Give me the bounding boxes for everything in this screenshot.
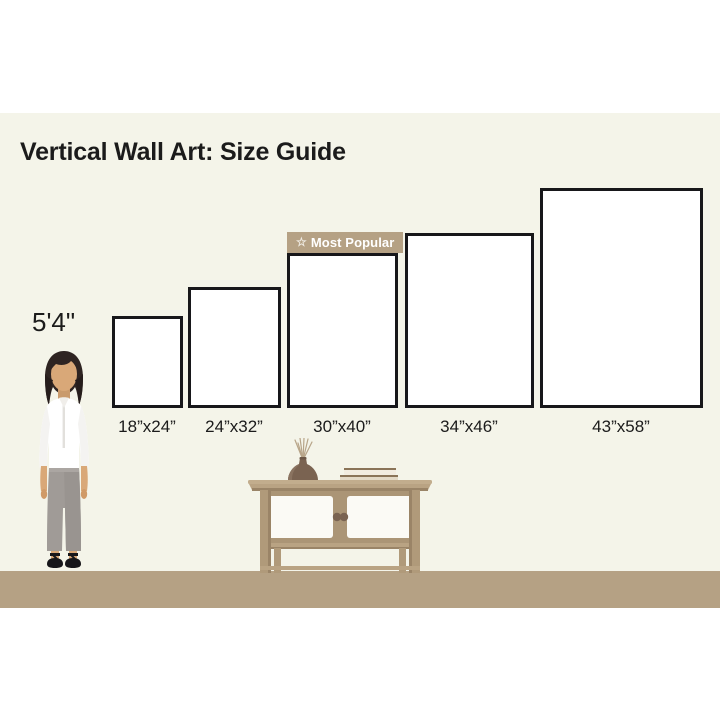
person-svg bbox=[28, 348, 100, 574]
art-frame-24x32[interactable] bbox=[188, 287, 281, 408]
most-popular-badge: ☆ Most Popular bbox=[287, 232, 403, 253]
page-title: Vertical Wall Art: Size Guide bbox=[20, 138, 346, 167]
size-label-30x40: 30”x40” bbox=[313, 417, 371, 437]
most-popular-label: Most Popular bbox=[311, 232, 395, 253]
floor-band bbox=[0, 571, 720, 608]
person-figure bbox=[28, 348, 100, 574]
art-frame-43x58[interactable] bbox=[540, 188, 703, 408]
art-frame-34x46[interactable] bbox=[405, 233, 534, 408]
art-frame-18x24[interactable] bbox=[112, 316, 183, 408]
height-reference-label: 5'4" bbox=[32, 307, 75, 338]
size-label-24x32: 24”x32” bbox=[205, 417, 263, 437]
console-table bbox=[248, 478, 432, 573]
size-label-34x46: 34”x46” bbox=[440, 417, 498, 437]
star-outline-icon: ☆ bbox=[296, 236, 307, 248]
art-frame-30x40[interactable] bbox=[287, 253, 398, 408]
size-label-43x58: 43”x58” bbox=[592, 417, 650, 437]
scene-panel: Vertical Wall Art: Size Guide 5'4" bbox=[0, 113, 720, 608]
size-guide-infographic: Vertical Wall Art: Size Guide 5'4" bbox=[0, 0, 720, 720]
console-table-svg bbox=[248, 478, 432, 573]
size-label-18x24: 18”x24” bbox=[118, 417, 176, 437]
